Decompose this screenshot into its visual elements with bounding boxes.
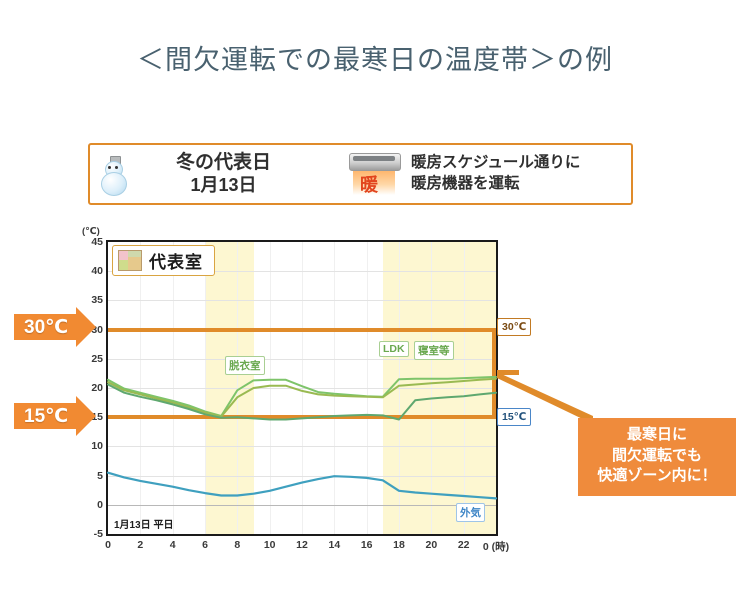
y-axis-tick: 45 xyxy=(91,236,103,248)
room-label-box: 代表室 xyxy=(112,245,215,276)
x-axis-tick: 16 xyxy=(361,539,373,551)
y-axis-tick: 25 xyxy=(91,353,103,365)
callout-stem xyxy=(497,372,593,424)
y-axis-tick: 10 xyxy=(91,440,103,452)
y-axis-tick: -5 xyxy=(94,528,103,540)
series-tag-脱衣室: 脱衣室 xyxy=(225,356,265,375)
x-axis-tick: 12 xyxy=(296,539,308,551)
floor-plan-icon xyxy=(118,250,142,271)
series-tag-外気: 外気 xyxy=(456,503,485,522)
chart-series-layer xyxy=(108,242,496,534)
x-axis-tick: 20 xyxy=(425,539,437,551)
series-line-脱衣室 xyxy=(108,385,496,420)
x-axis-tick: 6 xyxy=(202,539,208,551)
series-line-外気 xyxy=(108,473,496,499)
series-tag-寝室等: 寝室等 xyxy=(414,341,454,360)
y-axis-tick: 5 xyxy=(97,470,103,482)
x-axis-tick: 14 xyxy=(328,539,340,551)
y-axis-tick: 35 xyxy=(91,294,103,306)
x-axis-tick: 10 xyxy=(264,539,276,551)
arrow-lower-limit: 15℃ xyxy=(14,396,96,436)
x-axis-tick: 8 xyxy=(234,539,240,551)
y-axis-tick: 20 xyxy=(91,382,103,394)
arrow-upper-limit: 30℃ xyxy=(14,307,96,347)
x-axis-tick: 0 (時) xyxy=(483,539,509,554)
x-axis-tick: 4 xyxy=(170,539,176,551)
x-axis-tick: 18 xyxy=(393,539,405,551)
arrow-lower-label: 15℃ xyxy=(24,405,68,428)
arrow-upper-label: 30℃ xyxy=(24,316,68,339)
temperature-chart: (℃) 1月13日 平日 -50510152025303540450246810… xyxy=(0,0,750,600)
x-axis-tick: 2 xyxy=(137,539,143,551)
y-axis-tick: 40 xyxy=(91,265,103,277)
y-axis-tick: 0 xyxy=(97,499,103,511)
callout-comfort-zone: 最寒日に 間欠運転でも 快適ゾーン内に！ xyxy=(578,418,736,496)
chart-plot-area: 1月13日 平日 -505101520253035404502468101214… xyxy=(106,240,498,536)
series-tag-LDK: LDK xyxy=(379,341,409,357)
room-label-text: 代表室 xyxy=(149,248,203,273)
chip-upper-limit: 30℃ xyxy=(497,318,531,336)
x-axis-tick: 0 xyxy=(105,539,111,551)
x-axis-tick: 22 xyxy=(458,539,470,551)
